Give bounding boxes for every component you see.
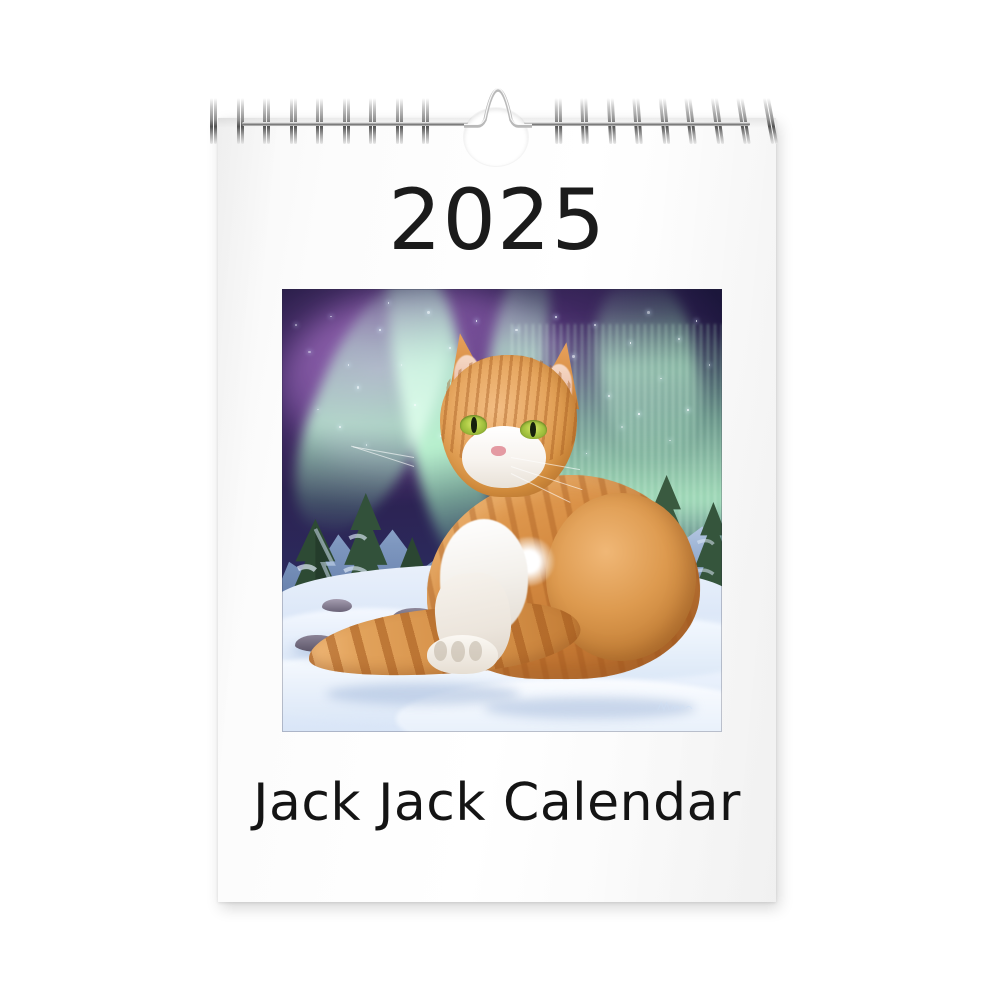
binding-coil <box>396 98 403 144</box>
cat-paw-toe-2 <box>451 641 464 662</box>
binding-coil <box>762 98 777 144</box>
binding-coil <box>632 98 642 144</box>
cat-nose <box>491 446 506 456</box>
artist-signature <box>656 697 696 715</box>
binding-coil <box>710 98 723 144</box>
binding-coil <box>290 98 297 144</box>
binding-coil <box>554 98 562 144</box>
binding-coil <box>263 98 270 144</box>
binding-coil <box>684 98 696 144</box>
binding-coil <box>658 98 669 144</box>
binding-coil <box>237 98 244 144</box>
binding-coil <box>343 98 350 144</box>
binding-coil <box>422 98 429 144</box>
binding-coil <box>369 98 376 144</box>
cat-paw-toe-1 <box>434 641 447 661</box>
binding-coil <box>606 98 616 144</box>
calendar-caption: Jack Jack Calendar <box>218 773 776 833</box>
cover-artwork[interactable] <box>282 289 722 732</box>
binding-coil <box>316 98 323 144</box>
calendar-year-title: 2025 <box>218 178 776 262</box>
calendar-page[interactable]: 2025 <box>218 118 776 902</box>
hanging-hook-icon[interactable] <box>464 86 532 132</box>
binding-coil <box>736 98 750 144</box>
binding-coil <box>580 98 589 144</box>
cat-illustration <box>282 289 722 732</box>
binding-coil <box>210 98 217 144</box>
spiral-binding[interactable] <box>196 80 796 190</box>
screenshot-canvas: 2025 <box>0 0 1000 1000</box>
